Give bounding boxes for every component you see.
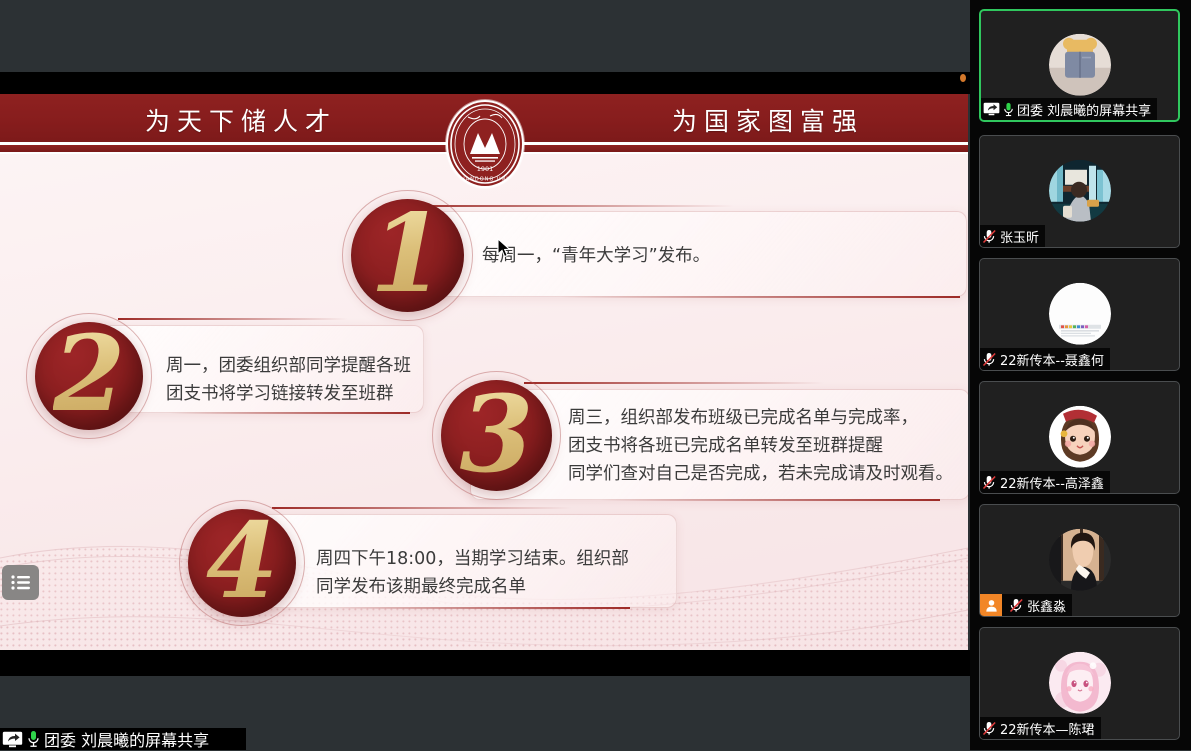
item-text-line: 同学发布该期最终完成名单 <box>316 573 526 602</box>
item-text-line: 周三，组织部发布班级已完成名单与完成率， <box>568 404 918 433</box>
participant-name-bar: 22新传本—陈珺 <box>980 717 1101 739</box>
participant-tile[interactable]: 22新传本—陈珺 <box>979 627 1180 740</box>
slogan-right: 为国家图富强 <box>672 102 864 138</box>
participant-name: 22新传本--高泽鑫 <box>1000 473 1104 492</box>
participant-name-bar: 张鑫淼 <box>980 594 1072 616</box>
item-text-line: 周一，团委组织部同学提醒各班 <box>166 352 411 381</box>
item-number-circle: 4 <box>188 509 296 617</box>
participant-name: 张玉昕 <box>1000 227 1039 246</box>
item-accent-line <box>170 412 410 414</box>
list-view-button[interactable] <box>2 565 39 600</box>
participant-tile[interactable]: 张玉昕 <box>979 135 1180 248</box>
avatar <box>1049 33 1111 95</box>
item-accent-line <box>330 607 630 609</box>
item-number-circle: 3 <box>441 380 552 491</box>
item-accent-line <box>524 382 824 384</box>
mic-muted-icon <box>982 475 997 490</box>
item-text-line: 周四下午18:00，当期学习结束。组织部 <box>316 545 629 574</box>
participant-name: 22新传本--聂鑫何 <box>1000 350 1104 369</box>
avatar <box>1049 159 1111 221</box>
item-text-line: 团支书将各班已完成名单转发至班群提醒 <box>568 432 883 461</box>
participant-tile[interactable]: 张鑫淼 <box>979 504 1180 617</box>
shandong-university-seal-icon: 1901 SHANDONG UNIV <box>446 100 524 188</box>
svg-text:SHANDONG UNIV: SHANDONG UNIV <box>457 177 513 183</box>
participant-name-bar: 张玉昕 <box>980 225 1045 247</box>
avatar <box>1049 528 1111 590</box>
slogan-left: 为天下储人才 <box>145 102 337 138</box>
list-view-icon <box>11 575 31 590</box>
share-bar-label: 团委 刘晨曦的屏幕共享 <box>44 727 209 751</box>
participant-name: 22新传本—陈珺 <box>1000 719 1095 738</box>
mic-on-icon <box>1003 102 1014 117</box>
item-text-line: 每周一，“青年大学习”发布。 <box>482 242 710 271</box>
mic-muted-icon <box>982 352 997 367</box>
item-number-circle: 2 <box>35 322 143 430</box>
avatar <box>1049 651 1111 713</box>
letterbox-top <box>0 72 970 94</box>
mic-muted-icon <box>982 721 997 736</box>
item-text-line: 团支书将学习链接转发至班群 <box>166 380 394 409</box>
participant-name-bar: 22新传本--聂鑫何 <box>980 348 1110 370</box>
participant-tile[interactable]: 团委 刘晨曦的屏幕共享 <box>979 9 1180 122</box>
item-accent-line <box>272 507 572 509</box>
participant-rail[interactable]: 团委 刘晨曦的屏幕共享 <box>970 0 1191 750</box>
item-text-line: 同学们查对自己是否完成，若未完成请及时观看。 <box>568 460 953 489</box>
mouse-cursor <box>497 238 511 258</box>
item-accent-line <box>118 318 348 320</box>
svg-text:1901: 1901 <box>477 165 494 173</box>
participant-name: 张鑫淼 <box>1027 596 1066 615</box>
host-badge-icon <box>980 594 1002 616</box>
mic-muted-icon <box>982 229 997 244</box>
participant-name-bar: 22新传本--高泽鑫 <box>980 471 1110 493</box>
letterbox-bottom <box>0 650 970 676</box>
item-accent-line <box>404 205 734 207</box>
item-accent-line <box>600 499 940 501</box>
participant-tile[interactable]: 22新传本--聂鑫何 <box>979 258 1180 371</box>
item-number-circle: 1 <box>351 199 464 312</box>
avatar <box>1049 282 1111 344</box>
shared-screen-stage[interactable]: 为天下储人才 为国家图富强 1901 SHANDONG UNIV <box>0 0 970 750</box>
participant-name-bar: 团委 刘晨曦的屏幕共享 <box>981 98 1157 120</box>
avatar <box>1049 405 1111 467</box>
participant-tile[interactable]: 22新传本--高泽鑫 <box>979 381 1180 494</box>
screen-share-icon <box>2 731 23 748</box>
screen-share-icon <box>983 102 1000 116</box>
mic-on-icon <box>27 730 40 748</box>
mic-muted-icon <box>1009 598 1024 613</box>
orange-indicator-dot <box>960 74 966 82</box>
presentation-slide: 为天下储人才 为国家图富强 1901 SHANDONG UNIV <box>0 94 968 650</box>
screen-share-status-bar: 团委 刘晨曦的屏幕共享 <box>0 728 246 750</box>
item-accent-line <box>560 296 960 298</box>
participant-name: 团委 刘晨曦的屏幕共享 <box>1017 100 1151 119</box>
